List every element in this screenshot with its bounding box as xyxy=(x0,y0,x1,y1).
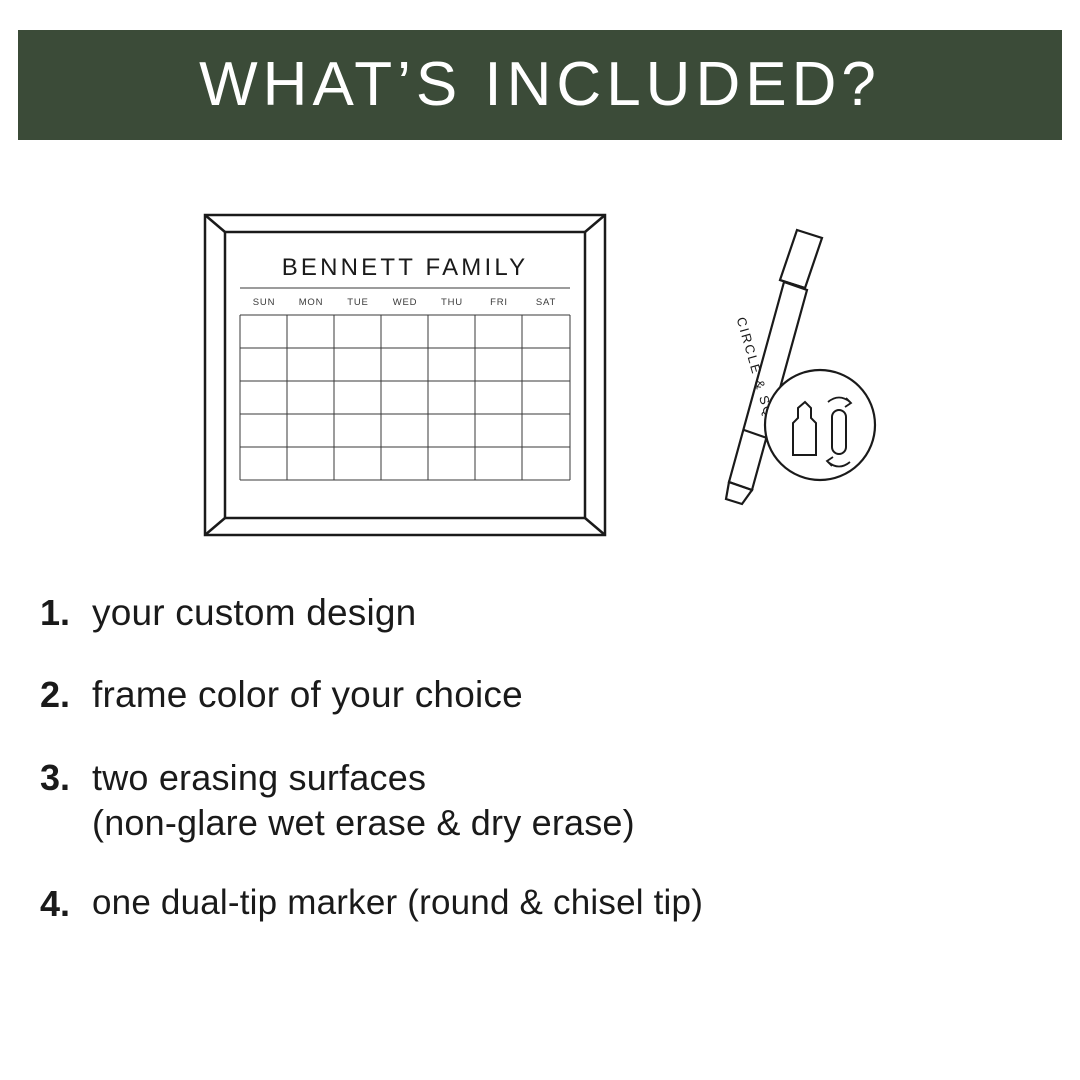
svg-text:SUN: SUN xyxy=(253,297,275,308)
svg-text:WED: WED xyxy=(393,297,418,308)
list-item-text: two erasing surfaces (non-glare wet eras… xyxy=(92,755,635,845)
product-illustration: BENNETT FAMILY SUN MON TUE WED THU FRI S… xyxy=(0,170,1080,570)
calendar-family-name: BENNETT FAMILY xyxy=(282,254,529,281)
list-item: 2. frame color of your choice xyxy=(40,672,1050,718)
list-item: 3. two erasing surfaces (non-glare wet e… xyxy=(40,755,1050,845)
list-item: 4. one dual-tip marker (round & chisel t… xyxy=(40,881,1050,925)
list-item-text: your custom design xyxy=(92,590,416,636)
page-root: WHAT’S INCLUDED? BENNETT FAMILY xyxy=(0,0,1080,1080)
list-item-number: 3. xyxy=(40,755,92,799)
calendar-grid xyxy=(240,315,570,480)
included-list: 1. your custom design 2. frame color of … xyxy=(40,590,1050,961)
svg-text:SAT: SAT xyxy=(536,297,556,308)
list-item-number: 1. xyxy=(40,590,92,634)
svg-text:FRI: FRI xyxy=(490,297,508,308)
page-title: WHAT’S INCLUDED? xyxy=(199,54,881,116)
header-banner: WHAT’S INCLUDED? xyxy=(18,30,1062,140)
list-item-text: frame color of your choice xyxy=(92,672,523,718)
list-item-text: one dual-tip marker (round & chisel tip) xyxy=(92,881,703,925)
illustration-svg: BENNETT FAMILY SUN MON TUE WED THU FRI S… xyxy=(0,170,1080,570)
calendar-weekday-row: SUN MON TUE WED THU FRI SAT xyxy=(253,297,556,308)
list-item-number: 4. xyxy=(40,881,92,925)
list-item: 1. your custom design xyxy=(40,590,1050,636)
svg-text:MON: MON xyxy=(299,297,324,308)
list-item-number: 2. xyxy=(40,672,92,716)
marker-tip-callout xyxy=(765,370,875,480)
svg-text:TUE: TUE xyxy=(347,297,368,308)
svg-text:THU: THU xyxy=(441,297,463,308)
